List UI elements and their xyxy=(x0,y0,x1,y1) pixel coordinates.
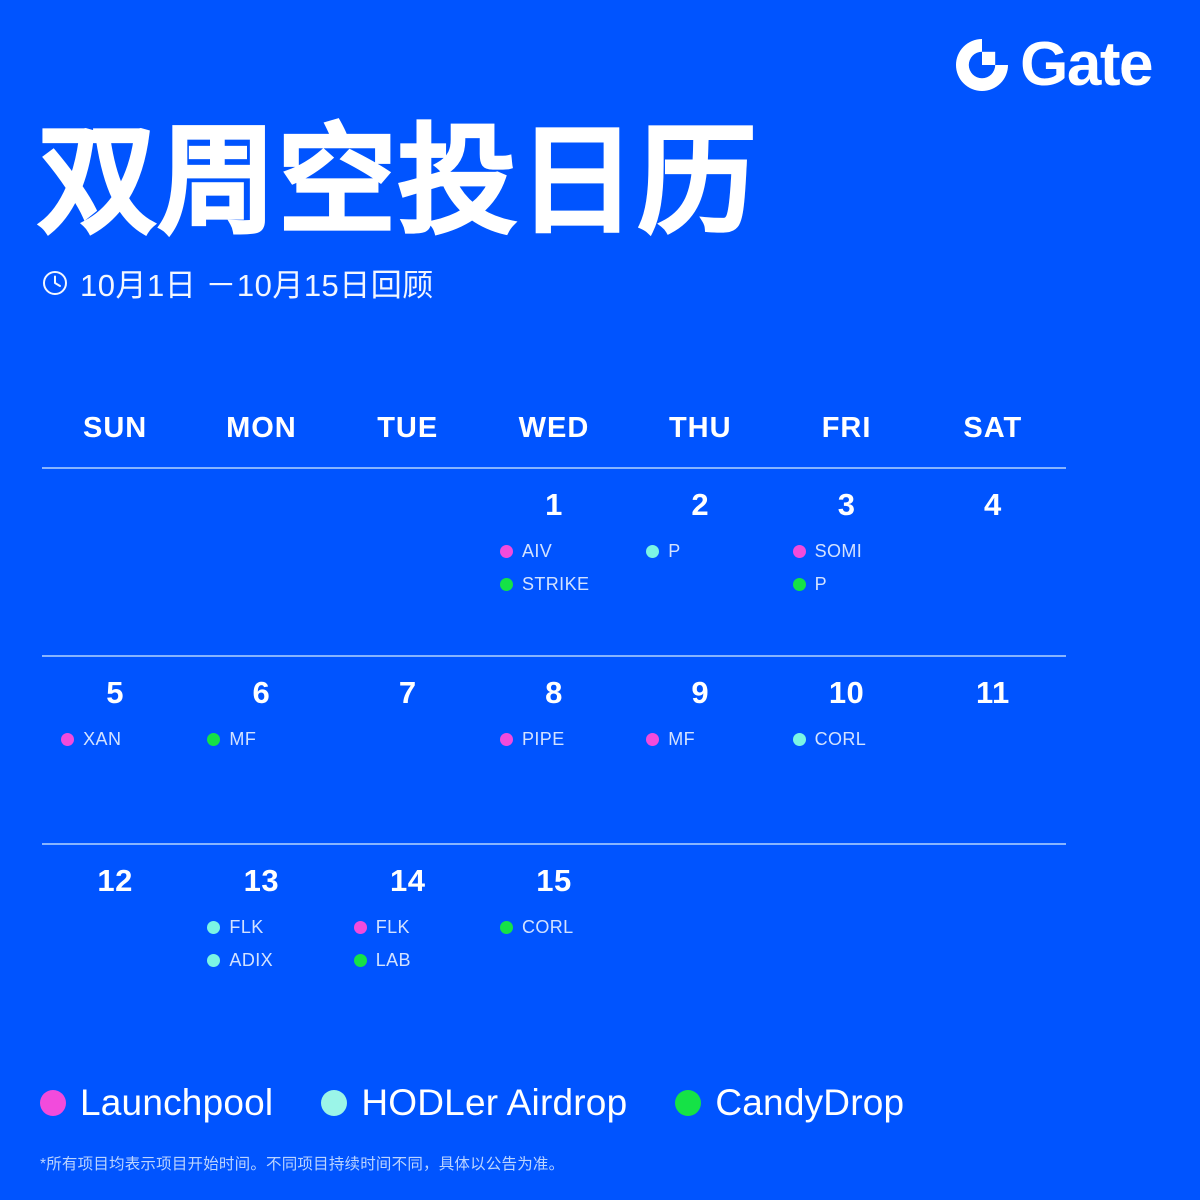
airdrop-calendar: SUN MON TUE WED THU FRI SAT 1AIVSTRIKE2P… xyxy=(42,412,1066,1015)
day-cell-empty xyxy=(42,487,188,655)
day-cell-9: 9MF xyxy=(627,675,773,843)
event-label: FLK xyxy=(229,917,263,938)
day-cell-11: 11 xyxy=(920,675,1066,843)
dow-fri: FRI xyxy=(773,412,919,445)
legend: LaunchpoolHODLer AirdropCandyDrop xyxy=(40,1082,904,1124)
candydrop-dot-icon xyxy=(793,578,806,591)
event-item[interactable]: P xyxy=(793,574,901,595)
day-events: MF xyxy=(188,729,334,750)
legend-label: CandyDrop xyxy=(715,1082,904,1124)
day-number: 6 xyxy=(188,675,334,715)
legend-item-candydrop: CandyDrop xyxy=(675,1082,904,1124)
week-divider xyxy=(42,655,1066,657)
event-item[interactable]: ADIX xyxy=(207,950,315,971)
week-row-3: 1213FLKADIX14FLKLAB15CORL xyxy=(42,845,1066,1015)
event-item[interactable]: FLK xyxy=(207,917,315,938)
day-number xyxy=(42,487,188,527)
event-item[interactable]: SOMI xyxy=(793,541,901,562)
day-cell-empty xyxy=(188,487,334,655)
dow-sat: SAT xyxy=(920,412,1066,445)
day-number: 9 xyxy=(627,675,773,715)
day-number: 11 xyxy=(920,675,1066,715)
launchpool-dot-icon xyxy=(500,545,513,558)
day-cell-14: 14FLKLAB xyxy=(335,863,481,1015)
event-label: AIV xyxy=(522,541,552,562)
week-row-2: 5XAN6MF78PIPE9MF10CORL11 xyxy=(42,657,1066,843)
day-cell-5: 5XAN xyxy=(42,675,188,843)
day-events: CORL xyxy=(481,917,627,938)
dow-sun: SUN xyxy=(42,412,188,445)
candydrop-dot-icon xyxy=(500,578,513,591)
legend-label: HODLer Airdrop xyxy=(361,1082,627,1124)
day-cell-empty xyxy=(773,863,919,1015)
dow-thu: THU xyxy=(627,412,773,445)
hodler-dot-icon xyxy=(321,1090,347,1116)
event-label: PIPE xyxy=(522,729,565,750)
week-divider xyxy=(42,843,1066,845)
hodler-dot-icon xyxy=(646,545,659,558)
day-number: 5 xyxy=(42,675,188,715)
day-number: 12 xyxy=(42,863,188,903)
gate-circle-logo-icon xyxy=(954,37,1010,93)
date-range-label: 10月1日 －10月15日回顾 xyxy=(80,260,434,305)
day-events: MF xyxy=(627,729,773,750)
day-cell-empty xyxy=(920,863,1066,1015)
day-cell-3: 3SOMIP xyxy=(773,487,919,655)
day-number xyxy=(920,863,1066,903)
event-label: P xyxy=(668,541,680,562)
day-events: SOMIP xyxy=(773,541,919,595)
event-label: LAB xyxy=(376,950,411,971)
day-events: CORL xyxy=(773,729,919,750)
day-number: 13 xyxy=(188,863,334,903)
week-divider xyxy=(42,467,1066,469)
day-events: FLKLAB xyxy=(335,917,481,971)
dow-mon: MON xyxy=(188,412,334,445)
day-cell-1: 1AIVSTRIKE xyxy=(481,487,627,655)
day-cell-empty xyxy=(627,863,773,1015)
event-label: STRIKE xyxy=(522,574,589,595)
legend-item-hodler: HODLer Airdrop xyxy=(321,1082,627,1124)
event-label: XAN xyxy=(83,729,121,750)
hodler-dot-icon xyxy=(207,954,220,967)
day-cell-6: 6MF xyxy=(188,675,334,843)
event-item[interactable]: LAB xyxy=(354,950,462,971)
launchpool-dot-icon xyxy=(40,1090,66,1116)
page-title: 双周空投日历 xyxy=(38,122,758,242)
dow-wed: WED xyxy=(481,412,627,445)
event-item[interactable]: XAN xyxy=(61,729,169,750)
event-label: FLK xyxy=(376,917,410,938)
launchpool-dot-icon xyxy=(354,921,367,934)
event-item[interactable]: FLK xyxy=(354,917,462,938)
day-number: 3 xyxy=(773,487,919,527)
day-number: 14 xyxy=(335,863,481,903)
event-item[interactable]: CORL xyxy=(793,729,901,750)
candydrop-dot-icon xyxy=(675,1090,701,1116)
day-cell-10: 10CORL xyxy=(773,675,919,843)
event-label: P xyxy=(815,574,827,595)
event-item[interactable]: CORL xyxy=(500,917,608,938)
day-events: P xyxy=(627,541,773,562)
week-row-1: 1AIVSTRIKE2P3SOMIP4 xyxy=(42,469,1066,655)
launchpool-dot-icon xyxy=(793,545,806,558)
launchpool-dot-icon xyxy=(500,733,513,746)
day-cell-2: 2P xyxy=(627,487,773,655)
candydrop-dot-icon xyxy=(500,921,513,934)
day-number xyxy=(335,487,481,527)
day-of-week-header: SUN MON TUE WED THU FRI SAT xyxy=(42,412,1066,467)
legend-item-launchpool: Launchpool xyxy=(40,1082,273,1124)
event-item[interactable]: PIPE xyxy=(500,729,608,750)
event-label: CORL xyxy=(815,729,867,750)
event-label: MF xyxy=(668,729,695,750)
event-label: CORL xyxy=(522,917,574,938)
day-cell-13: 13FLKADIX xyxy=(188,863,334,1015)
event-item[interactable]: MF xyxy=(646,729,754,750)
candydrop-dot-icon xyxy=(354,954,367,967)
brand-logo: Gate xyxy=(954,34,1152,96)
day-cell-empty xyxy=(335,487,481,655)
event-label: MF xyxy=(229,729,256,750)
dow-tue: TUE xyxy=(335,412,481,445)
day-number: 10 xyxy=(773,675,919,715)
day-number: 7 xyxy=(335,675,481,715)
day-events: FLKADIX xyxy=(188,917,334,971)
day-cell-4: 4 xyxy=(920,487,1066,655)
day-number: 2 xyxy=(627,487,773,527)
event-label: ADIX xyxy=(229,950,273,971)
day-cell-8: 8PIPE xyxy=(481,675,627,843)
page-header: 双周空投日历 10月1日 －10月15日回顾 xyxy=(38,122,758,305)
launchpool-dot-icon xyxy=(61,733,74,746)
clock-icon xyxy=(42,270,68,296)
event-item[interactable]: P xyxy=(646,541,754,562)
day-number: 4 xyxy=(920,487,1066,527)
footnote: *所有项目均表示项目开始时间。不同项目持续时间不同，具体以公告为准。 xyxy=(40,1152,564,1174)
hodler-dot-icon xyxy=(207,921,220,934)
event-item[interactable]: AIV xyxy=(500,541,608,562)
hodler-dot-icon xyxy=(793,733,806,746)
day-cell-15: 15CORL xyxy=(481,863,627,1015)
candydrop-dot-icon xyxy=(207,733,220,746)
day-events: AIVSTRIKE xyxy=(481,541,627,595)
event-item[interactable]: STRIKE xyxy=(500,574,608,595)
day-number xyxy=(773,863,919,903)
day-events: XAN xyxy=(42,729,188,750)
brand-name: Gate xyxy=(1020,34,1152,96)
event-item[interactable]: MF xyxy=(207,729,315,750)
day-cell-7: 7 xyxy=(335,675,481,843)
event-label: SOMI xyxy=(815,541,863,562)
day-events: PIPE xyxy=(481,729,627,750)
date-range: 10月1日 －10月15日回顾 xyxy=(42,260,758,305)
day-number: 15 xyxy=(481,863,627,903)
day-number: 8 xyxy=(481,675,627,715)
day-cell-12: 12 xyxy=(42,863,188,1015)
day-number xyxy=(627,863,773,903)
legend-label: Launchpool xyxy=(80,1082,273,1124)
launchpool-dot-icon xyxy=(646,733,659,746)
day-number: 1 xyxy=(481,487,627,527)
day-number xyxy=(188,487,334,527)
